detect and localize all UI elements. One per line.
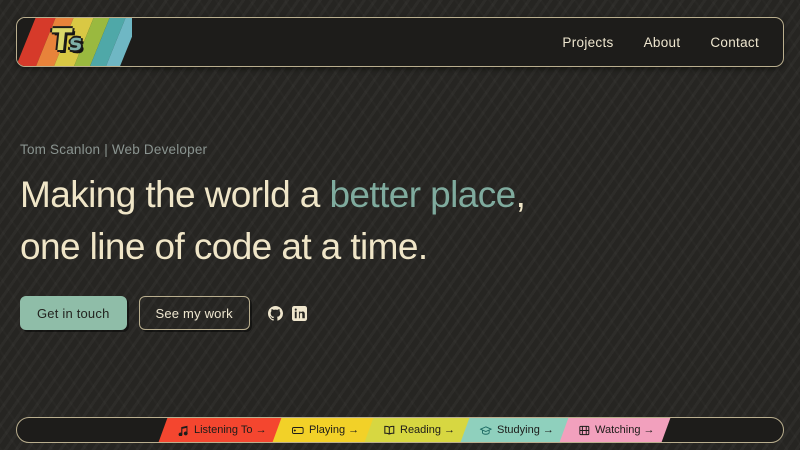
github-icon[interactable] xyxy=(268,306,283,321)
hero-section: Tom Scanlon | Web Developer Making the w… xyxy=(20,142,720,273)
nav-contact[interactable]: Contact xyxy=(710,35,759,50)
status-bar-tail xyxy=(664,418,783,442)
status-listening-to[interactable]: Listening To → xyxy=(159,418,282,442)
main-nav: Projects About Contact xyxy=(562,35,783,50)
nav-about[interactable]: About xyxy=(644,35,681,50)
ts-logo[interactable]: Ts xyxy=(49,23,82,58)
music-note-icon xyxy=(178,425,189,436)
hero-eyebrow: Tom Scanlon | Web Developer xyxy=(20,142,720,157)
book-icon xyxy=(384,425,395,436)
status-bar: Listening To → Playing → Reading → Study… xyxy=(16,417,784,443)
film-icon xyxy=(579,425,590,436)
hero-cta-row: Get in touch See my work xyxy=(20,296,307,330)
status-reading[interactable]: Reading → xyxy=(364,418,470,442)
status-watching[interactable]: Watching → xyxy=(559,418,669,442)
graduation-cap-icon xyxy=(480,425,492,436)
logo-letter-s: s xyxy=(68,31,82,56)
get-in-touch-button[interactable]: Get in touch xyxy=(20,296,127,330)
linkedin-icon[interactable] xyxy=(292,306,307,321)
status-playing[interactable]: Playing → xyxy=(272,418,374,442)
nav-projects[interactable]: Projects xyxy=(562,35,613,50)
site-header: Ts Projects About Contact xyxy=(16,17,784,67)
headline-part-1: Making the world a xyxy=(20,174,329,215)
status-studying[interactable]: Studying → xyxy=(460,418,569,442)
headline-line-2: one line of code at a time. xyxy=(20,221,720,273)
status-reading-label: Reading → xyxy=(400,424,455,436)
see-my-work-button[interactable]: See my work xyxy=(139,296,250,330)
status-listening-to-label: Listening To → xyxy=(194,424,267,436)
headline-part-2: , xyxy=(516,174,526,215)
status-playing-label: Playing → xyxy=(309,424,359,436)
status-bar-spacer xyxy=(17,418,163,442)
hero-headline: Making the world a better place, one lin… xyxy=(20,169,720,273)
status-studying-label: Studying → xyxy=(497,424,554,436)
gamepad-icon xyxy=(292,425,304,436)
status-watching-label: Watching → xyxy=(595,424,655,436)
social-links xyxy=(268,306,307,321)
headline-accent: better place xyxy=(329,174,515,215)
